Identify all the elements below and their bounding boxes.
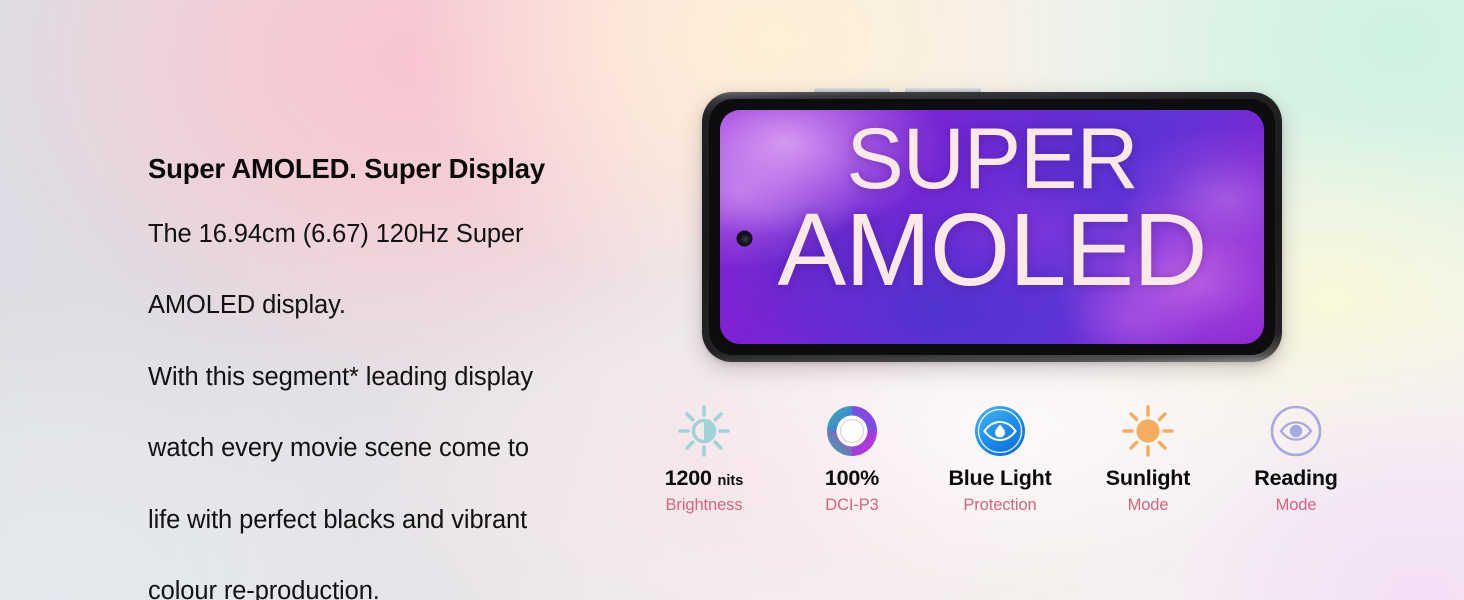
feature-item-color-gamut: 100% DCI-P3 bbox=[778, 398, 926, 515]
page-title: Super AMOLED. Super Display bbox=[148, 152, 648, 185]
feature-item-blue-light: Blue Light Protection bbox=[926, 398, 1074, 515]
feature-blue-light-value: Blue Light bbox=[926, 466, 1074, 491]
body-line-1: The 16.94cm (6.67) 120Hz Super bbox=[148, 211, 648, 257]
feature-gamut-value: 100% bbox=[778, 466, 926, 491]
feature-item-sunlight: Sunlight Mode bbox=[1074, 398, 1222, 515]
feature-sunlight-label: Mode bbox=[1074, 496, 1222, 515]
phone-screen: SUPER AMOLED bbox=[720, 110, 1264, 344]
screen-wordmark-line-1: SUPER bbox=[720, 118, 1264, 201]
feature-brightness-value: 1200 nits bbox=[630, 466, 778, 491]
body-line-4: watch every movie scene come to bbox=[148, 425, 648, 471]
feature-blue-light-label: Protection bbox=[926, 496, 1074, 515]
screen-wordmark-line-2: AMOLED bbox=[720, 201, 1264, 300]
copy-block: Super AMOLED. Super Display The 16.94cm … bbox=[148, 152, 648, 600]
feature-brightness-label: Brightness bbox=[630, 496, 778, 515]
display-feature-banner: Super AMOLED. Super Display The 16.94cm … bbox=[0, 0, 1464, 600]
phone-frame: SUPER AMOLED bbox=[702, 92, 1282, 362]
feature-reading-value: Reading bbox=[1222, 466, 1370, 491]
feature-reading-label: Mode bbox=[1222, 496, 1370, 515]
sun-icon bbox=[1074, 398, 1222, 464]
reading-eye-icon bbox=[1222, 398, 1370, 464]
feature-gamut-label: DCI-P3 bbox=[778, 496, 926, 515]
screen-wordmark: SUPER AMOLED bbox=[720, 118, 1264, 299]
feature-item-brightness: 1200 nits Brightness bbox=[630, 398, 778, 515]
phone-bezel: SUPER AMOLED bbox=[709, 99, 1275, 355]
feature-sunlight-value: Sunlight bbox=[1074, 466, 1222, 491]
body-line-2: AMOLED display. bbox=[148, 282, 648, 328]
feature-highlights-row: 1200 nits Brightness bbox=[630, 398, 1370, 515]
phone-mockup: SUPER AMOLED bbox=[702, 92, 1282, 362]
brightness-icon bbox=[630, 398, 778, 464]
body-line-6: colour re-production. bbox=[148, 568, 648, 600]
blue-light-eye-icon bbox=[926, 398, 1074, 464]
body-line-3: With this segment* leading display bbox=[148, 354, 648, 400]
body-line-5: life with perfect blacks and vibrant bbox=[148, 497, 648, 543]
color-gamut-ring-icon bbox=[778, 398, 926, 464]
feature-item-reading: Reading Mode bbox=[1222, 398, 1370, 515]
